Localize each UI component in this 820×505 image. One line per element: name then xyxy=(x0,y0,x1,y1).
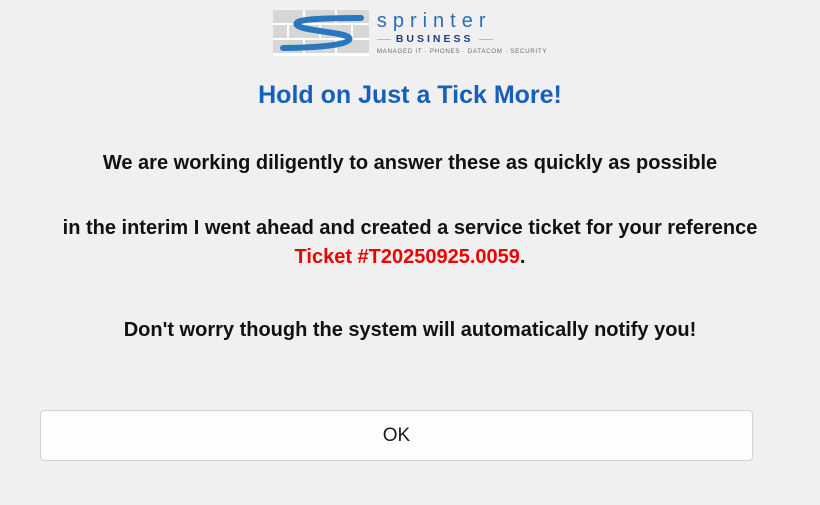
ticket-number: Ticket #T20250925.0059 xyxy=(295,246,520,268)
sprinter-business-logo: sprinter BUSINESS MANAGED IT · PHONES · … xyxy=(273,10,547,56)
logo-wordmark: sprinter BUSINESS MANAGED IT · PHONES · … xyxy=(377,10,547,56)
message-line-1: We are working diligently to answer thes… xyxy=(8,152,812,175)
dialog-message: Hold on Just a Tick More! We are working… xyxy=(0,82,820,342)
brand-tagline: MANAGED IT · PHONES · DATACOM · SECURITY xyxy=(377,49,547,55)
page-title: Hold on Just a Tick More! xyxy=(8,82,812,110)
message-line-3: Don't worry though the system will autom… xyxy=(8,319,812,342)
brand-sub-row: BUSINESS xyxy=(377,34,547,45)
sprinter-s-curve-icon xyxy=(273,10,369,56)
brand-rule-right xyxy=(479,39,493,40)
brand-rule-left xyxy=(377,39,391,40)
ticket-period: . xyxy=(520,246,526,268)
brand-name: sprinter xyxy=(377,11,547,31)
logo-header: sprinter BUSINESS MANAGED IT · PHONES · … xyxy=(0,0,820,56)
ticket-line: Ticket #T20250925.0059. xyxy=(8,246,812,269)
message-line-2: in the interim I went ahead and created … xyxy=(8,217,812,240)
ok-button[interactable]: OK xyxy=(40,410,753,461)
brand-sub: BUSINESS xyxy=(396,34,474,45)
s-curve-glyph xyxy=(273,10,369,56)
button-row: OK xyxy=(0,410,793,461)
